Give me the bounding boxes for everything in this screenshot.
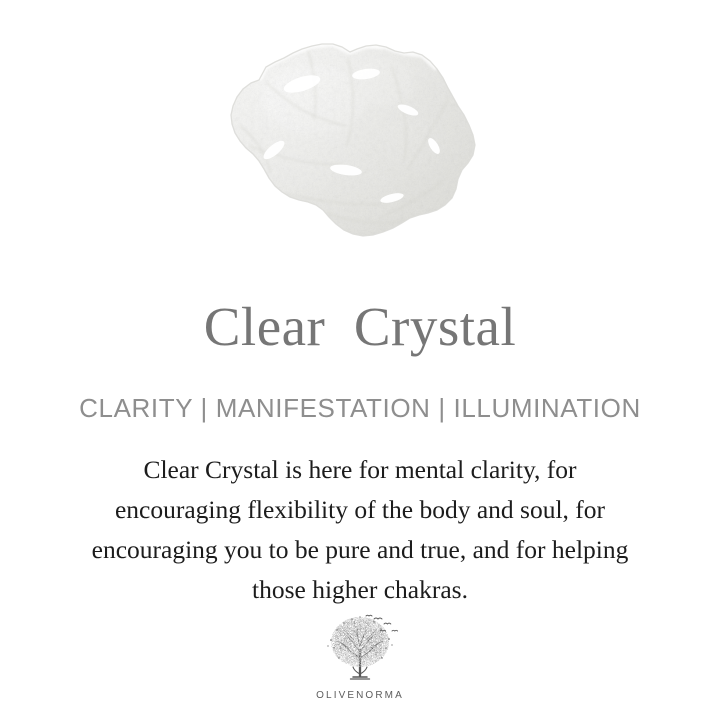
crystal-image-area (0, 0, 720, 285)
description-line: encouraging flexibility of the body and … (36, 490, 684, 530)
tree-foliage (331, 617, 389, 667)
description-line: those higher chakras. (36, 570, 684, 610)
crystal-keywords: CLARITY | MANIFESTATION | ILLUMINATION (0, 392, 720, 424)
description-line: Clear Crystal is here for mental clarity… (36, 450, 684, 490)
description-line: encouraging you to be pure and true, and… (36, 530, 684, 570)
product-info-card: Clear Crystal CLARITY | MANIFESTATION | … (0, 0, 720, 720)
clear-crystal-image (196, 22, 506, 270)
page-title: Clear Crystal (0, 296, 720, 358)
tree-icon (314, 614, 406, 688)
crystal-description: Clear Crystal is here for mental clarity… (36, 450, 684, 610)
brand-name: OLIVENORMA (0, 690, 720, 701)
brand-logo: OLIVENORMA (0, 614, 720, 701)
